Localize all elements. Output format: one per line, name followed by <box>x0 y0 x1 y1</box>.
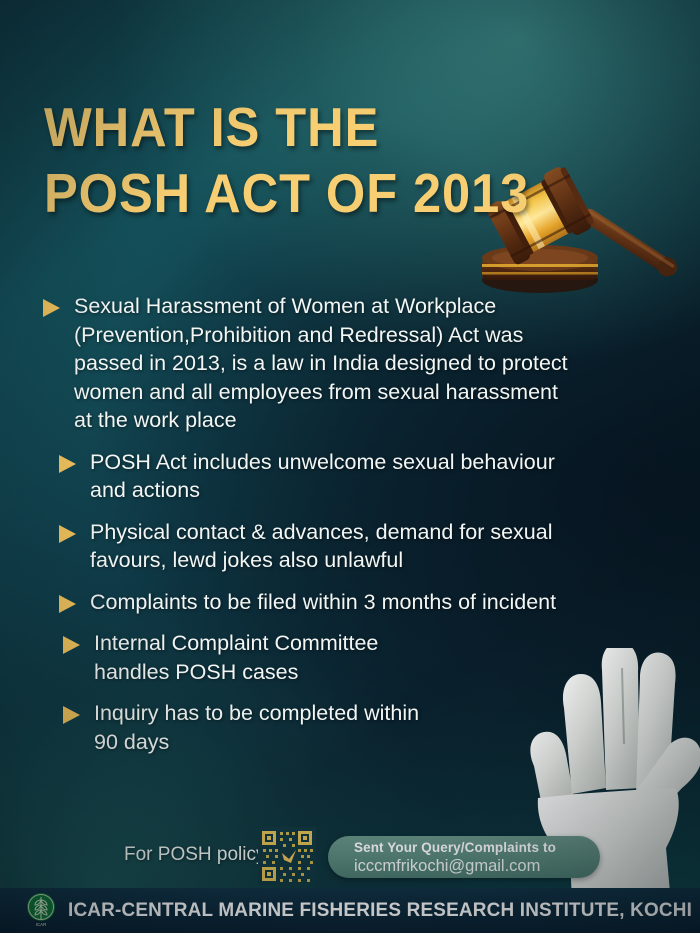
bullet-text: Inquiry has to be completed within 90 da… <box>94 699 419 756</box>
bullet-text: Complaints to be filed within 3 months o… <box>90 588 556 617</box>
email-address[interactable]: icccmfrikochi@gmail.com <box>354 856 600 876</box>
bullet-text: Sexual Harassment of Women at Workplace … <box>74 292 568 435</box>
list-item: Complaints to be filed within 3 months o… <box>56 588 690 617</box>
bullet-text: POSH Act includes unwelcome sexual behav… <box>90 448 555 505</box>
bullet-text: Physical contact & advances, demand for … <box>90 518 553 575</box>
email-contact-pill[interactable]: Sent Your Query/Complaints to icccmfriko… <box>328 836 600 878</box>
posh-act-poster: WHAT IS THE POSH ACT OF 2013 <box>0 0 700 933</box>
title-line-2: POSH ACT OF 2013 <box>44 160 559 226</box>
institute-name: ICAR-CENTRAL MARINE FISHERIES RESEARCH I… <box>68 899 692 922</box>
institute-banner: ICAR ICAR-CENTRAL MARINE FISHERIES RESEA… <box>0 888 700 933</box>
list-item: Sexual Harassment of Women at Workplace … <box>40 292 690 435</box>
qr-code-icon[interactable] <box>258 827 316 885</box>
page-title: WHAT IS THE POSH ACT OF 2013 <box>44 94 604 226</box>
icar-wheat-logo-icon: ICAR <box>24 891 58 931</box>
title-line-1: WHAT IS THE <box>44 94 559 160</box>
list-item: Physical contact & advances, demand for … <box>56 518 690 575</box>
svg-text:ICAR: ICAR <box>36 922 47 927</box>
triangle-bullet-icon <box>56 523 78 545</box>
bullet-list: Sexual Harassment of Women at Workplace … <box>40 292 690 769</box>
list-item: POSH Act includes unwelcome sexual behav… <box>56 448 690 505</box>
bullet-text: Internal Complaint Committee handles POS… <box>94 629 378 686</box>
triangle-bullet-icon <box>56 453 78 475</box>
triangle-bullet-icon <box>40 297 62 319</box>
posh-policy-label: For POSH policy: <box>124 844 271 866</box>
triangle-bullet-icon <box>60 704 82 726</box>
list-item: Internal Complaint Committee handles POS… <box>60 629 690 686</box>
query-heading: Sent Your Query/Complaints to <box>354 840 600 856</box>
triangle-bullet-icon <box>60 634 82 656</box>
list-item: Inquiry has to be completed within 90 da… <box>60 699 690 756</box>
triangle-bullet-icon <box>56 593 78 615</box>
